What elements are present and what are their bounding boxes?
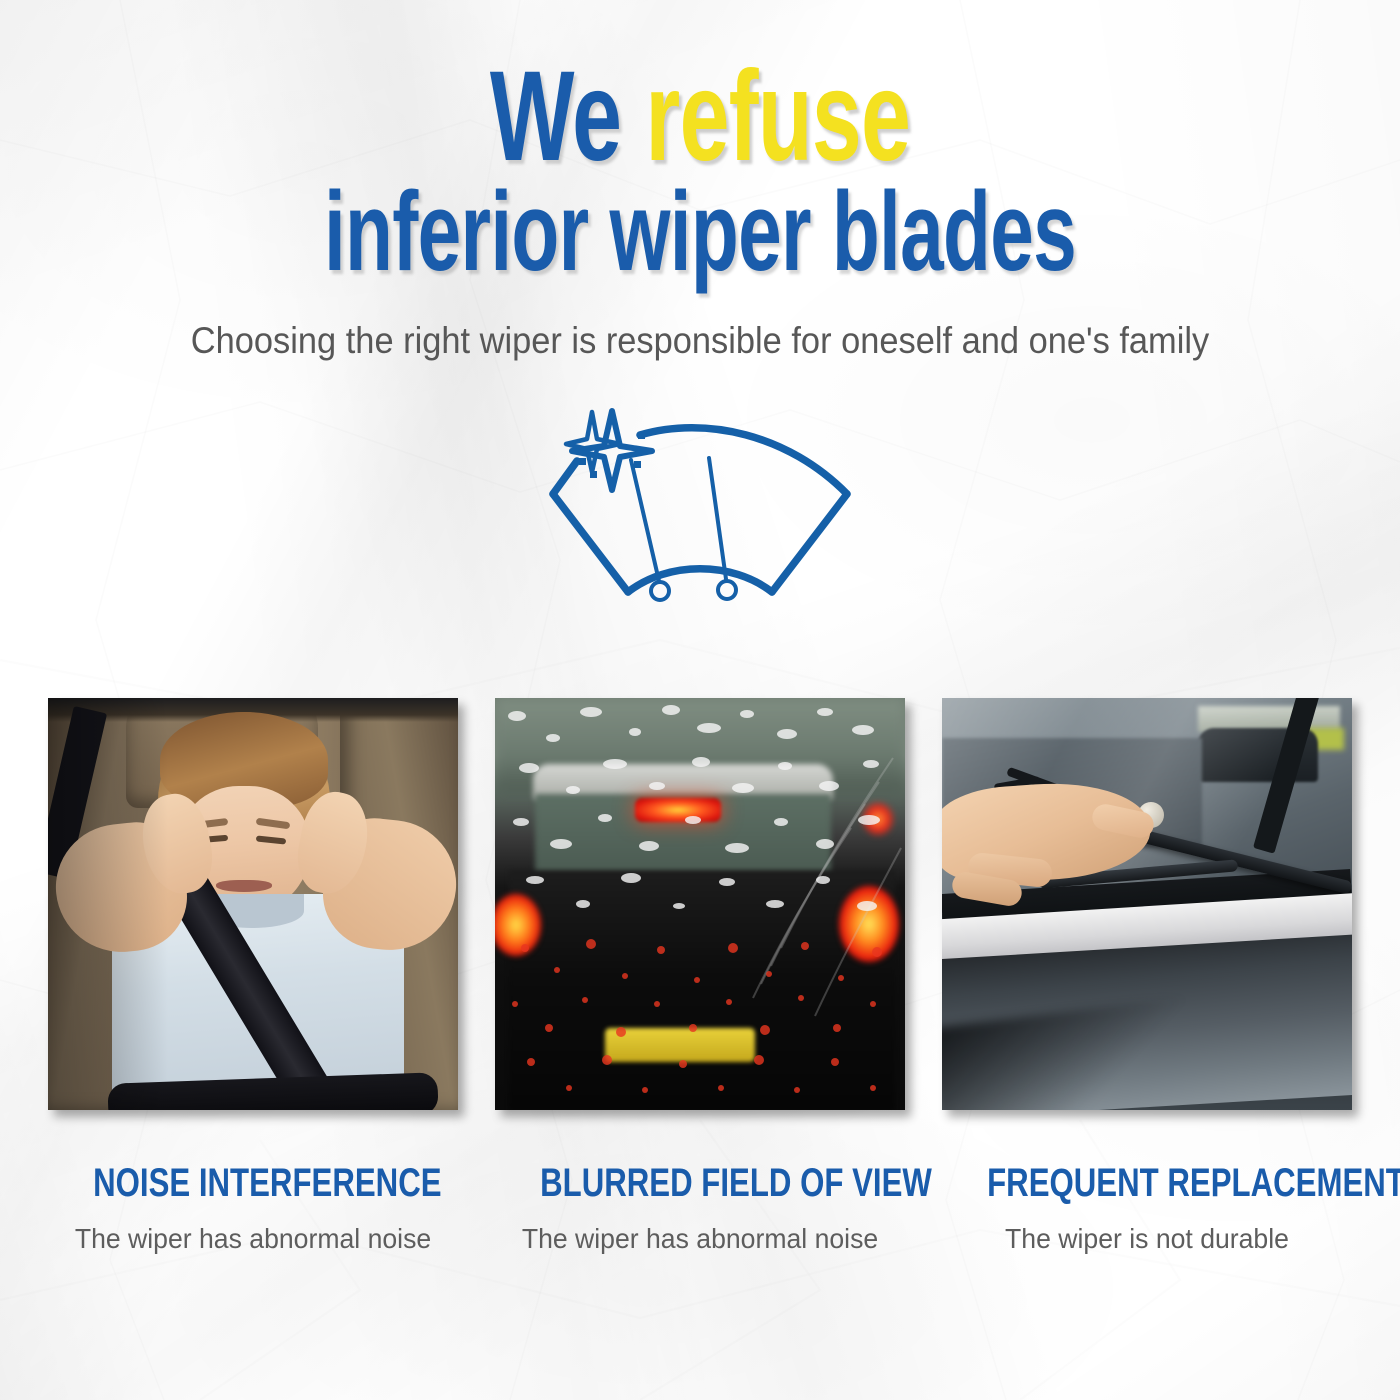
caption-subtitle: The wiper has abnormal noise [58,1223,448,1255]
caption-title: BLURRED FIELD OF VIEW [540,1162,860,1204]
feature-caption-row: NOISE INTERFERENCE The wiper has abnorma… [48,1162,1354,1255]
hand-replacing-wiper-blade-photo [942,698,1352,1110]
feature-caption-frequent-replacement: FREQUENT REPLACEMENT The wiper is not du… [942,1162,1352,1255]
caption-title: FREQUENT REPLACEMENT [987,1162,1307,1204]
subtitle: Choosing the right wiper is responsible … [49,320,1351,362]
headline-we-text: We [490,45,646,188]
boy-covering-ears-in-car-seat-photo [48,698,458,1110]
caption-subtitle: The wiper has abnormal noise [505,1223,895,1255]
feature-caption-noise: NOISE INTERFERENCE The wiper has abnorma… [48,1162,458,1255]
infographic-page: We refuse inferior wiper blades Choosing… [0,0,1400,1400]
rainy-blurred-windshield-taillights-photo [495,698,905,1110]
feature-caption-blurred-view: BLURRED FIELD OF VIEW The wiper has abno… [495,1162,905,1255]
feature-photo-row [48,698,1354,1110]
windshield-wiper-sparkle-icon [500,398,900,623]
headline-refuse-text: refuse [645,45,910,188]
headline: We refuse inferior wiper blades [0,58,1400,283]
headline-line-1: We refuse [210,58,1190,176]
caption-subtitle: The wiper is not durable [952,1223,1342,1255]
caption-title: NOISE INTERFERENCE [93,1162,413,1204]
headline-line-2: inferior wiper blades [210,180,1190,283]
wiper-icon-container [0,398,1400,623]
